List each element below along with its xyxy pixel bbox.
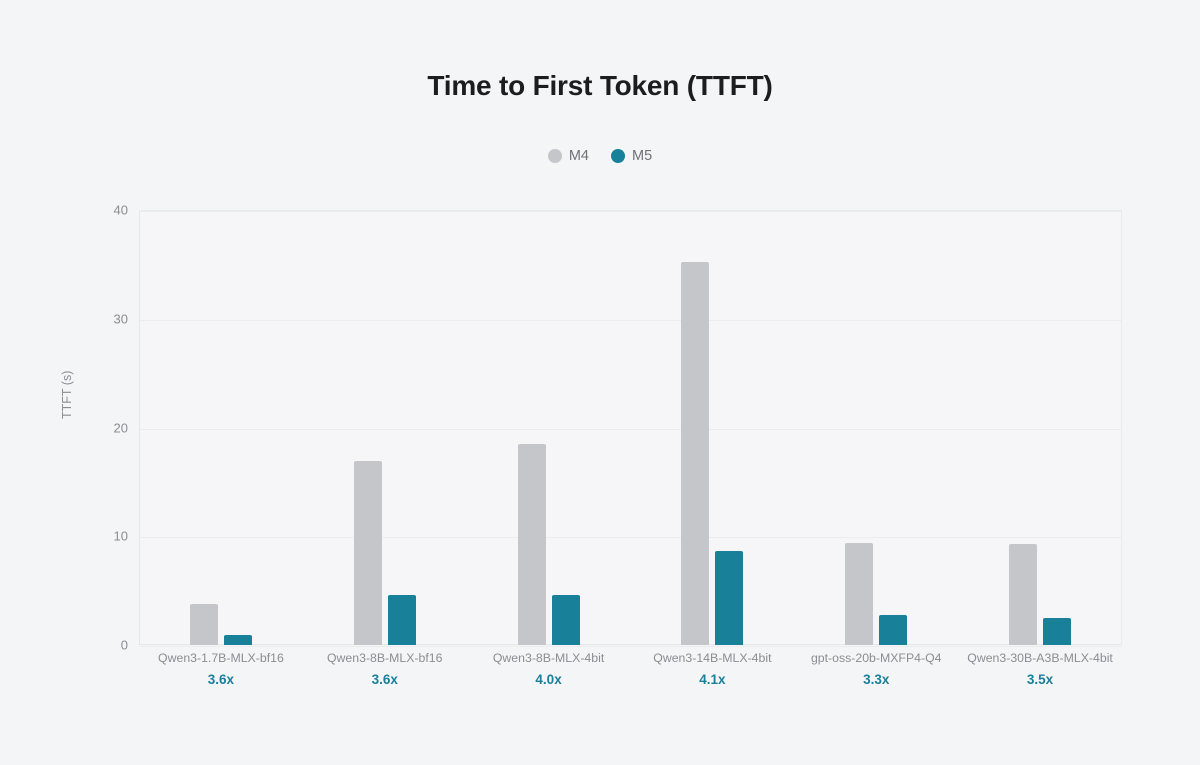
x-axis-label-group: Qwen3-14B-MLX-4bit4.1x <box>630 651 794 687</box>
y-axis-title: TTFT (s) <box>60 389 74 419</box>
bar-m4[interactable] <box>354 461 382 645</box>
bar-m5[interactable] <box>1043 618 1071 645</box>
speedup-badge: 4.0x <box>467 672 631 687</box>
bar-pair <box>139 210 303 645</box>
bar-m5[interactable] <box>388 595 416 645</box>
x-axis-label-group: Qwen3-1.7B-MLX-bf163.6x <box>139 651 303 687</box>
y-tick-label: 40 <box>92 203 128 218</box>
bar-m4[interactable] <box>518 444 546 645</box>
x-axis-label-group: Qwen3-30B-A3B-MLX-4bit3.5x <box>958 651 1122 687</box>
speedup-badge: 3.6x <box>139 672 303 687</box>
speedup-badge: 3.6x <box>303 672 467 687</box>
bar-group <box>139 210 303 645</box>
y-tick-label: 30 <box>92 311 128 326</box>
x-axis-label-group: Qwen3-8B-MLX-4bit4.0x <box>467 651 631 687</box>
y-tick-label: 20 <box>92 420 128 435</box>
bar-pair <box>303 210 467 645</box>
bar-group <box>630 210 794 645</box>
bar-m4[interactable] <box>681 262 709 645</box>
bar-groups <box>139 210 1122 645</box>
x-tick-label: Qwen3-8B-MLX-4bit <box>467 651 631 665</box>
bar-m5[interactable] <box>224 635 252 645</box>
bar-pair <box>794 210 958 645</box>
bar-group <box>794 210 958 645</box>
bar-pair <box>467 210 631 645</box>
x-tick-label: gpt-oss-20b-MXFP4-Q4 <box>794 651 958 665</box>
gridline <box>140 646 1121 647</box>
speedup-badge: 3.3x <box>794 672 958 687</box>
speedup-badge: 3.5x <box>958 672 1122 687</box>
x-axis-label-group: Qwen3-8B-MLX-bf163.6x <box>303 651 467 687</box>
ttft-bar-chart: Time to First Token (TTFT) M4M5 TTFT (s)… <box>0 0 1200 765</box>
x-tick-label: Qwen3-14B-MLX-4bit <box>630 651 794 665</box>
x-tick-label: Qwen3-1.7B-MLX-bf16 <box>139 651 303 665</box>
bar-pair <box>630 210 794 645</box>
bar-m4[interactable] <box>845 543 873 645</box>
speedup-badge: 4.1x <box>630 672 794 687</box>
bar-m5[interactable] <box>879 615 907 645</box>
bar-group <box>467 210 631 645</box>
bar-pair <box>958 210 1122 645</box>
bar-m5[interactable] <box>552 595 580 645</box>
x-axis-labels: Qwen3-1.7B-MLX-bf163.6xQwen3-8B-MLX-bf16… <box>139 651 1122 687</box>
bar-group <box>303 210 467 645</box>
bar-m4[interactable] <box>1009 544 1037 645</box>
bar-m4[interactable] <box>190 604 218 645</box>
y-tick-label: 0 <box>92 638 128 653</box>
bar-group <box>958 210 1122 645</box>
plot-wrapper: TTFT (s) 010203040 Qwen3-1.7B-MLX-bf163.… <box>0 0 1200 765</box>
x-tick-label: Qwen3-8B-MLX-bf16 <box>303 651 467 665</box>
x-axis-label-group: gpt-oss-20b-MXFP4-Q43.3x <box>794 651 958 687</box>
y-tick-label: 10 <box>92 529 128 544</box>
x-tick-label: Qwen3-30B-A3B-MLX-4bit <box>958 651 1122 665</box>
bar-m5[interactable] <box>715 551 743 645</box>
